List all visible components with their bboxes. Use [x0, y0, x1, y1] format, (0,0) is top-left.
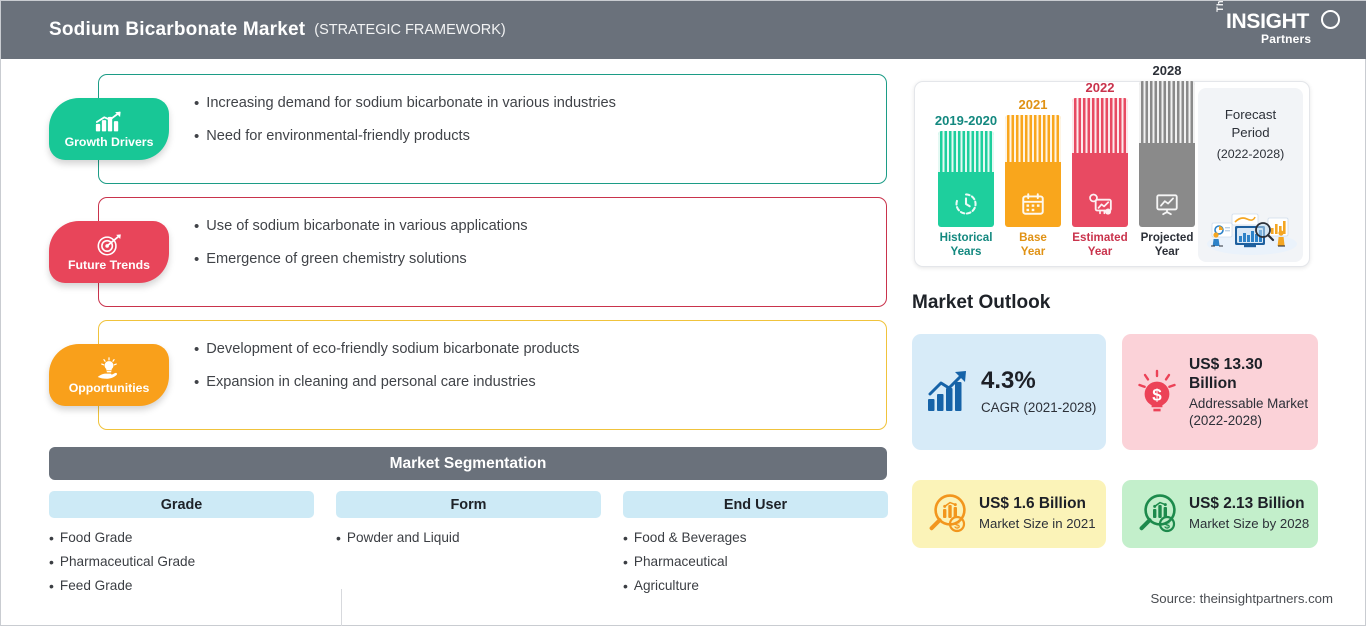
list-item-label: Pharmaceutical	[634, 554, 728, 571]
forecast-period-range: (2022-2028)	[1198, 147, 1303, 161]
list-item-label: Emergence of green chemistry solutions	[206, 250, 466, 268]
outlook-card-market-size-2028[interactable]: $ US$ 2.13 Billion Market Size by 2028	[1122, 480, 1318, 548]
magnifier-chart-dollar-icon: $	[1135, 492, 1179, 536]
bullet-dot-icon: •	[194, 95, 199, 114]
outlook-card-value: US$ 2.13 Billion	[1189, 495, 1309, 513]
presentation-chart-icon	[1154, 191, 1180, 217]
pill-future-trends[interactable]: Future Trends	[49, 221, 169, 283]
lightbulb-dollar-icon: $	[1135, 369, 1179, 415]
bullet-dot-icon: •	[623, 554, 628, 572]
bar-base	[1005, 115, 1061, 227]
logo-insight-text: INSIGHT	[1226, 10, 1309, 34]
outlook-card-text: US$ 2.13 Billion Market Size by 2028	[1189, 495, 1317, 532]
outlook-card-label: Addressable Market (2022-2028)	[1189, 395, 1310, 430]
segmentation-items: • Powder and Liquid	[336, 530, 601, 548]
forecast-bars: 2019-2020 Historical Years 2021	[925, 82, 1200, 268]
bar-caption: Historical Years	[940, 231, 993, 258]
list-item-label: Need for environmental-friendly products	[206, 127, 470, 145]
pill-growth-drivers[interactable]: Growth Drivers	[49, 98, 169, 160]
bar-caption: Base Year	[1019, 231, 1047, 258]
bar-caption: Estimated Year	[1072, 231, 1127, 258]
logo-ring-icon	[1321, 10, 1340, 29]
clock-history-icon	[953, 191, 979, 217]
segmentation-items: • Food Grade • Pharmaceutical Grade • Fe…	[49, 530, 314, 596]
calendar-icon	[1020, 191, 1046, 217]
list-item-label: Agriculture	[634, 578, 699, 595]
bar-projected	[1139, 81, 1195, 227]
bar-chart-growth-icon	[94, 110, 124, 134]
list-item: • Use of sodium bicarbonate in various a…	[194, 217, 872, 237]
bullet-dot-icon: •	[194, 341, 199, 360]
bar-stripe-overlay	[1005, 115, 1061, 162]
segmentation-column-end-user: End User • Food & Beverages • Pharmaceut…	[623, 491, 888, 602]
list-item: • Development of eco-friendly sodium bic…	[194, 340, 872, 360]
list-item-label: Feed Grade	[60, 578, 133, 595]
bullet-dot-icon: •	[336, 530, 341, 548]
list-item: • Food & Beverages	[623, 530, 888, 548]
market-segmentation-header: Market Segmentation	[49, 447, 887, 480]
growth-drivers-list: • Increasing demand for sodium bicarbona…	[194, 94, 872, 160]
pill-label: Future Trends	[68, 258, 150, 272]
svg-text:$: $	[1164, 519, 1170, 531]
bar-year-label: 2022	[1086, 80, 1115, 95]
bar-group-historical: 2019-2020 Historical Years	[938, 113, 994, 258]
vertical-divider	[341, 589, 342, 626]
list-item: • Pharmaceutical Grade	[49, 554, 314, 572]
outlook-card-value: US$ 1.6 Billion	[979, 495, 1096, 513]
outlook-card-text: 4.3% CAGR (2021-2028)	[981, 368, 1104, 415]
bar-group-estimated: 2022 Estimated Year	[1072, 80, 1128, 258]
bar-group-base: 2021 Base Year	[1005, 97, 1061, 258]
bar-stripe-overlay	[1139, 81, 1195, 142]
forecast-period-panel: Forecast Period (2022-2028)	[1198, 88, 1303, 262]
bar-year-label: 2028	[1153, 63, 1182, 78]
outlook-card-label: Market Size by 2028	[1189, 516, 1309, 533]
bullet-dot-icon: •	[194, 374, 199, 393]
outlook-card-label: CAGR (2021-2028)	[981, 399, 1096, 416]
bar-caption-line1: Historical	[940, 231, 993, 244]
forecast-period-title: Forecast Period	[1198, 106, 1303, 142]
callout-box-growth-drivers: • Increasing demand for sodium bicarbona…	[98, 74, 887, 184]
bar-caption-line2: Year	[1088, 245, 1113, 258]
list-item-label: Increasing demand for sodium bicarbonate…	[206, 94, 616, 112]
bullet-dot-icon: •	[194, 128, 199, 147]
list-item: • Need for environmental-friendly produc…	[194, 127, 872, 147]
forecast-title-line2: Period	[1231, 125, 1269, 140]
list-item: • Increasing demand for sodium bicarbona…	[194, 94, 872, 114]
segmentation-column-title: Grade	[49, 491, 314, 518]
forecast-title-line1: Forecast	[1225, 107, 1276, 122]
bar-caption: Projected Year	[1141, 231, 1194, 258]
outlook-card-cagr[interactable]: 4.3% CAGR (2021-2028)	[912, 334, 1106, 450]
page-header: Sodium Bicarbonate Market (STRATEGIC FRA…	[1, 1, 1366, 59]
opportunities-list: • Development of eco-friendly sodium bic…	[194, 340, 872, 406]
list-item: • Emergence of green chemistry solutions	[194, 250, 872, 270]
target-dart-icon	[94, 233, 124, 257]
bullet-dot-icon: •	[623, 530, 628, 548]
bar-caption-line2: Years	[951, 245, 982, 258]
bullet-dot-icon: •	[623, 578, 628, 596]
bullet-dot-icon: •	[49, 530, 54, 548]
bar-chart-arrow-up-icon	[925, 369, 971, 415]
outlook-card-market-size-2021[interactable]: $ US$ 1.6 Billion Market Size in 2021	[912, 480, 1106, 548]
list-item-label: Use of sodium bicarbonate in various app…	[206, 217, 527, 235]
bar-estimated	[1072, 98, 1128, 227]
list-item: • Food Grade	[49, 530, 314, 548]
callout-box-opportunities: • Development of eco-friendly sodium bic…	[98, 320, 887, 430]
callout-box-future-trends: • Use of sodium bicarbonate in various a…	[98, 197, 887, 307]
page-subtitle: (STRATEGIC FRAMEWORK)	[314, 22, 505, 38]
outlook-card-value: 4.3%	[981, 368, 1096, 393]
bar-stripe-overlay	[938, 131, 994, 171]
future-trends-list: • Use of sodium bicarbonate in various a…	[194, 217, 872, 283]
pill-label: Growth Drivers	[65, 135, 154, 149]
list-item-label: Powder and Liquid	[347, 530, 460, 547]
list-item-label: Expansion in cleaning and personal care …	[206, 373, 535, 391]
market-outlook-title: Market Outlook	[912, 292, 1050, 314]
svg-text:$: $	[1152, 386, 1162, 405]
bullet-dot-icon: •	[49, 554, 54, 572]
bar-caption-line2: Year	[1021, 245, 1046, 258]
segmentation-items: • Food & Beverages • Pharmaceutical • Ag…	[623, 530, 888, 596]
bar-historical	[938, 131, 994, 227]
segmentation-column-grade: Grade • Food Grade • Pharmaceutical Grad…	[49, 491, 314, 602]
logo-the-text: The	[1215, 0, 1225, 12]
list-item: • Agriculture	[623, 578, 888, 596]
outlook-card-label: Market Size in 2021	[979, 516, 1096, 533]
outlook-card-text: US$ 1.6 Billion Market Size in 2021	[979, 495, 1104, 532]
bullet-dot-icon: •	[194, 218, 199, 237]
list-item: • Pharmaceutical	[623, 554, 888, 572]
list-item-label: Pharmaceutical Grade	[60, 554, 195, 571]
outlook-card-addressable-market[interactable]: $ US$ 13.30 Billion Addressable Market (…	[1122, 334, 1318, 450]
bar-year-label: 2021	[1019, 97, 1048, 112]
list-item: • Feed Grade	[49, 578, 314, 596]
magnifier-chart-dollar-icon: $	[925, 492, 969, 536]
svg-text:$: $	[954, 519, 960, 531]
bar-caption-line1: Projected	[1141, 231, 1194, 244]
list-item-label: Food & Beverages	[634, 530, 747, 547]
list-item: • Expansion in cleaning and personal car…	[194, 373, 872, 393]
segmentation-column-form: Form • Powder and Liquid	[336, 491, 601, 554]
bar-stripe-overlay	[1072, 98, 1128, 152]
bar-caption-line1: Base	[1019, 231, 1047, 244]
pill-label: Opportunities	[69, 381, 150, 395]
list-item-label: Development of eco-friendly sodium bicar…	[206, 340, 579, 358]
outlook-card-value: US$ 13.30 Billion	[1189, 355, 1310, 393]
list-item-label: Food Grade	[60, 530, 133, 547]
outlook-card-text: US$ 13.30 Billion Addressable Market (20…	[1189, 355, 1318, 430]
segmentation-column-title: End User	[623, 491, 888, 518]
analytics-gear-icon	[1087, 191, 1113, 217]
logo-partners-text: Partners	[1261, 32, 1311, 46]
insight-partners-logo[interactable]: The INSIGHT Partners	[1215, 10, 1345, 52]
bullet-dot-icon: •	[194, 251, 199, 270]
forecast-chart-card: 2019-2020 Historical Years 2021	[914, 81, 1310, 267]
segmentation-column-title: Form	[336, 491, 601, 518]
bar-year-label: 2019-2020	[935, 113, 997, 128]
bar-caption-line1: Estimated	[1072, 231, 1127, 244]
hand-lightbulb-icon	[94, 356, 124, 380]
list-item: • Powder and Liquid	[336, 530, 601, 548]
bar-caption-line2: Year	[1155, 245, 1180, 258]
bullet-dot-icon: •	[49, 578, 54, 596]
bar-group-projected: 2028 Projected Year	[1139, 63, 1195, 258]
pill-opportunities[interactable]: Opportunities	[49, 344, 169, 406]
page-title: Sodium Bicarbonate Market	[49, 19, 305, 41]
business-analytics-illustration	[1202, 204, 1299, 256]
source-attribution: Source: theinsightpartners.com	[1150, 591, 1333, 606]
infographic-page: Sodium Bicarbonate Market (STRATEGIC FRA…	[0, 0, 1366, 626]
